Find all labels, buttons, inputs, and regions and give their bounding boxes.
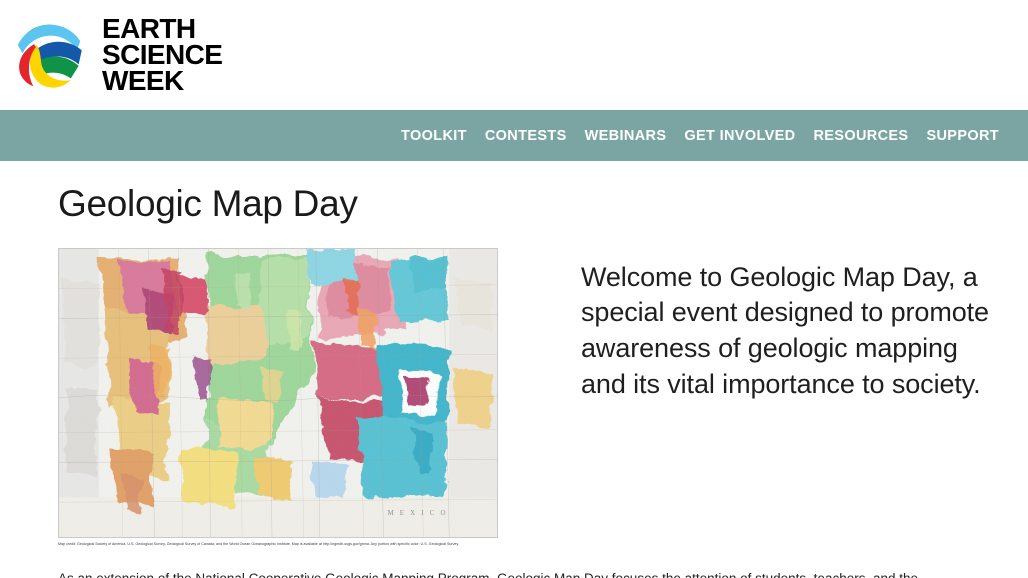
nav-item-webinars-wrap: WEBINARS	[576, 127, 676, 145]
earth-science-week-globe-logo-icon	[10, 16, 88, 94]
nav-item-toolkit-wrap: TOOLKIT	[392, 127, 476, 145]
main-content: Geologic Map Day	[0, 183, 1028, 578]
lede-column: Welcome to Geologic Map Day, a special e…	[498, 248, 1028, 404]
content-row: M E X I C O Map credit: Geological Socie…	[58, 248, 1028, 547]
nav-item-toolkit[interactable]: TOOLKIT	[392, 128, 476, 144]
welcome-lede: Welcome to Geologic Map Day, a special e…	[581, 260, 1008, 404]
nav-item-resources-wrap: RESOURCES	[804, 127, 917, 145]
primary-navigation: TOOLKIT CONTESTS WEBINARS GET INVOLVED R…	[0, 110, 1028, 161]
nav-item-contests[interactable]: CONTESTS	[476, 128, 576, 144]
nav-list: TOOLKIT CONTESTS WEBINARS GET INVOLVED R…	[392, 127, 1008, 145]
nav-item-support-wrap: SUPPORT	[917, 127, 1008, 145]
nav-item-support[interactable]: SUPPORT	[917, 128, 1008, 144]
nav-item-get-involved-wrap: GET INVOLVED	[675, 127, 804, 145]
site-header: EARTH SCIENCE WEEK	[0, 0, 1028, 110]
nav-item-resources[interactable]: RESOURCES	[804, 128, 917, 144]
logo-line-3: WEEK	[102, 68, 222, 94]
geologic-map-figure: M E X I C O Map credit: Geological Socie…	[58, 248, 498, 547]
nav-item-get-involved[interactable]: GET INVOLVED	[675, 128, 804, 144]
page-title: Geologic Map Day	[58, 183, 1028, 226]
geologic-map-image[interactable]: M E X I C O	[58, 248, 498, 538]
nav-item-webinars[interactable]: WEBINARS	[576, 128, 676, 144]
intro-paragraph: As an extension of the National Cooperat…	[58, 569, 978, 578]
map-credit-caption: Map credit: Geological Society of Americ…	[58, 542, 498, 547]
site-logo[interactable]: EARTH SCIENCE WEEK	[10, 16, 222, 94]
logo-wordmark: EARTH SCIENCE WEEK	[102, 16, 222, 94]
nav-item-contests-wrap: CONTESTS	[476, 127, 576, 145]
